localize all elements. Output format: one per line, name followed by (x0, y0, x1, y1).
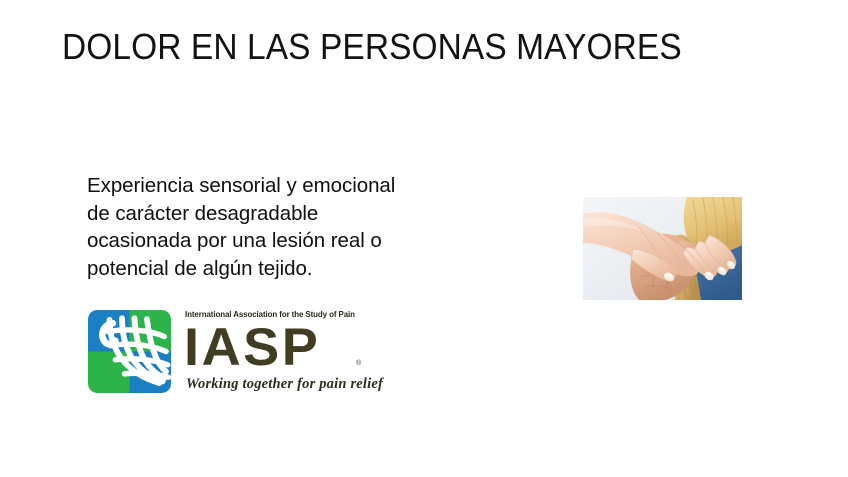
iasp-slogan: Working together for pain relief (186, 376, 383, 393)
slide: DOLOR EN LAS PERSONAS MAYORES Experienci… (0, 0, 848, 477)
definition-line: de carácter desagradable (87, 200, 447, 228)
definition-line: ocasionada por una lesión real o (87, 227, 447, 255)
page-title: DOLOR EN LAS PERSONAS MAYORES (62, 26, 732, 68)
iasp-wordmark: International Association for the Study … (184, 310, 384, 396)
elderly-hands-photo (583, 197, 742, 300)
iasp-globe-mark-icon (88, 310, 171, 393)
registered-trademark-icon: ® (356, 360, 361, 367)
definition-line: Experiencia sensorial y emocional (87, 172, 447, 200)
definition-text-block: Experiencia sensorial y emocional de car… (87, 172, 447, 282)
definition-line: potencial de algún tejido. (87, 255, 447, 283)
iasp-acronym: IASP (184, 321, 320, 374)
iasp-logo: International Association for the Study … (88, 310, 388, 405)
